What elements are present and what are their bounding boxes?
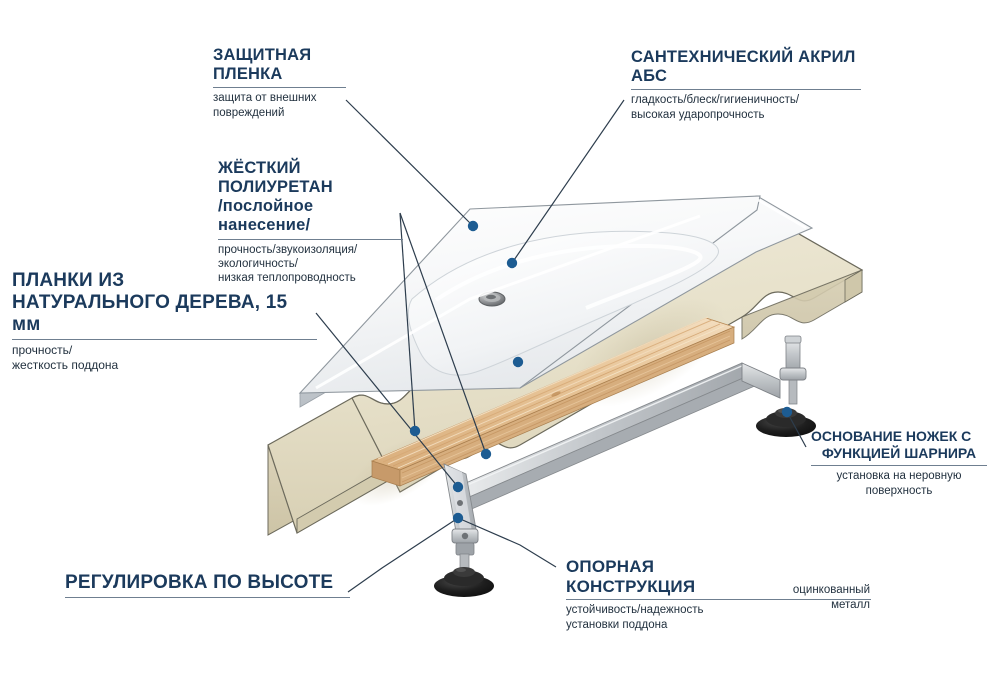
callout-sanitary-acrylic-head: САНТЕХНИЧЕСКИЙ АКРИЛ АБС [631, 48, 861, 86]
callout-sanitary-acrylic-rule [631, 89, 861, 90]
callout-height-adjustment-head: РЕГУЛИРОВКА ПО ВЫСОТЕ [65, 572, 350, 594]
marker-sanitary-acrylic [507, 258, 517, 268]
callout-protective-film: ЗАЩИТНАЯ ПЛЕНКА защита от внешних повреж… [213, 46, 346, 120]
leader-sanitary-acrylic [512, 100, 624, 263]
callout-protective-film-body: защита от внешних повреждений [213, 91, 346, 120]
leader-height-adjust [348, 518, 458, 592]
callout-hinged-feet-head-line2: ФУНКЦИЕЙ ШАРНИРА [811, 445, 987, 462]
adjustable-foot-right [756, 336, 816, 437]
marker-protective-film [468, 221, 478, 231]
drain-hole [479, 292, 505, 306]
callout-sanitary-acrylic-body: гладкость/блеск/гигиеничность/ высокая у… [631, 93, 861, 122]
marker-height-adjust [453, 513, 463, 523]
callout-hinged-feet: ОСНОВАНИЕ НОЖЕК С ФУНКЦИЕЙ ШАРНИРА устан… [811, 428, 987, 498]
leader-polyurethane-a [400, 213, 486, 454]
callout-wood-slats-body: прочность/ жесткость поддона [12, 343, 317, 373]
callout-height-adjustment: РЕГУЛИРОВКА ПО ВЫСОТЕ [65, 572, 350, 601]
callout-rigid-polyurethane: ЖЁСТКИЙ ПОЛИУРЕТАН /послойное нанесение/… [218, 159, 403, 286]
wooden-slat [372, 317, 734, 486]
callout-rigid-polyurethane-head: ЖЁСТКИЙ ПОЛИУРЕТАН /послойное нанесение/ [218, 159, 403, 236]
callout-galvanized-metal-text: оцинкованный металл [750, 583, 870, 613]
callout-height-adjustment-rule [65, 597, 350, 598]
adjustable-foot-front [434, 529, 494, 597]
callout-rigid-polyurethane-rule [218, 239, 403, 240]
callout-protective-film-head: ЗАЩИТНАЯ ПЛЕНКА [213, 46, 346, 84]
leader-hinged-feet [787, 412, 806, 447]
leader-support-frame [458, 518, 556, 567]
marker-hinged-feet [782, 407, 792, 417]
leader-wood-slats [316, 313, 458, 487]
marker-wood-slats [410, 426, 420, 436]
marker-polyurethane-edge [481, 449, 491, 459]
marker-support-frame [453, 482, 463, 492]
callout-protective-film-rule [213, 87, 346, 88]
callout-hinged-feet-rule [811, 465, 987, 466]
callout-hinged-feet-head-line1: ОСНОВАНИЕ НОЖЕК С [811, 428, 987, 445]
callout-galvanized-metal: оцинкованный металл [750, 583, 870, 613]
diagram-canvas: ЗАЩИТНАЯ ПЛЕНКА защита от внешних повреж… [0, 0, 1000, 697]
support-frame [444, 363, 780, 543]
marker-dots [410, 221, 792, 523]
callout-wood-slats-rule [12, 339, 317, 340]
callout-wood-slats-head: ПЛАНКИ ИЗ НАТУРАЛЬНОГО ДЕРЕВА, 15 мм [12, 270, 317, 336]
callout-wood-slats: ПЛАНКИ ИЗ НАТУРАЛЬНОГО ДЕРЕВА, 15 мм про… [12, 270, 317, 373]
callout-sanitary-acrylic: САНТЕХНИЧЕСКИЙ АКРИЛ АБС гладкость/блеск… [631, 48, 861, 122]
callout-hinged-feet-body: установка на неровную поверхность [811, 469, 987, 499]
marker-drain [513, 357, 523, 367]
